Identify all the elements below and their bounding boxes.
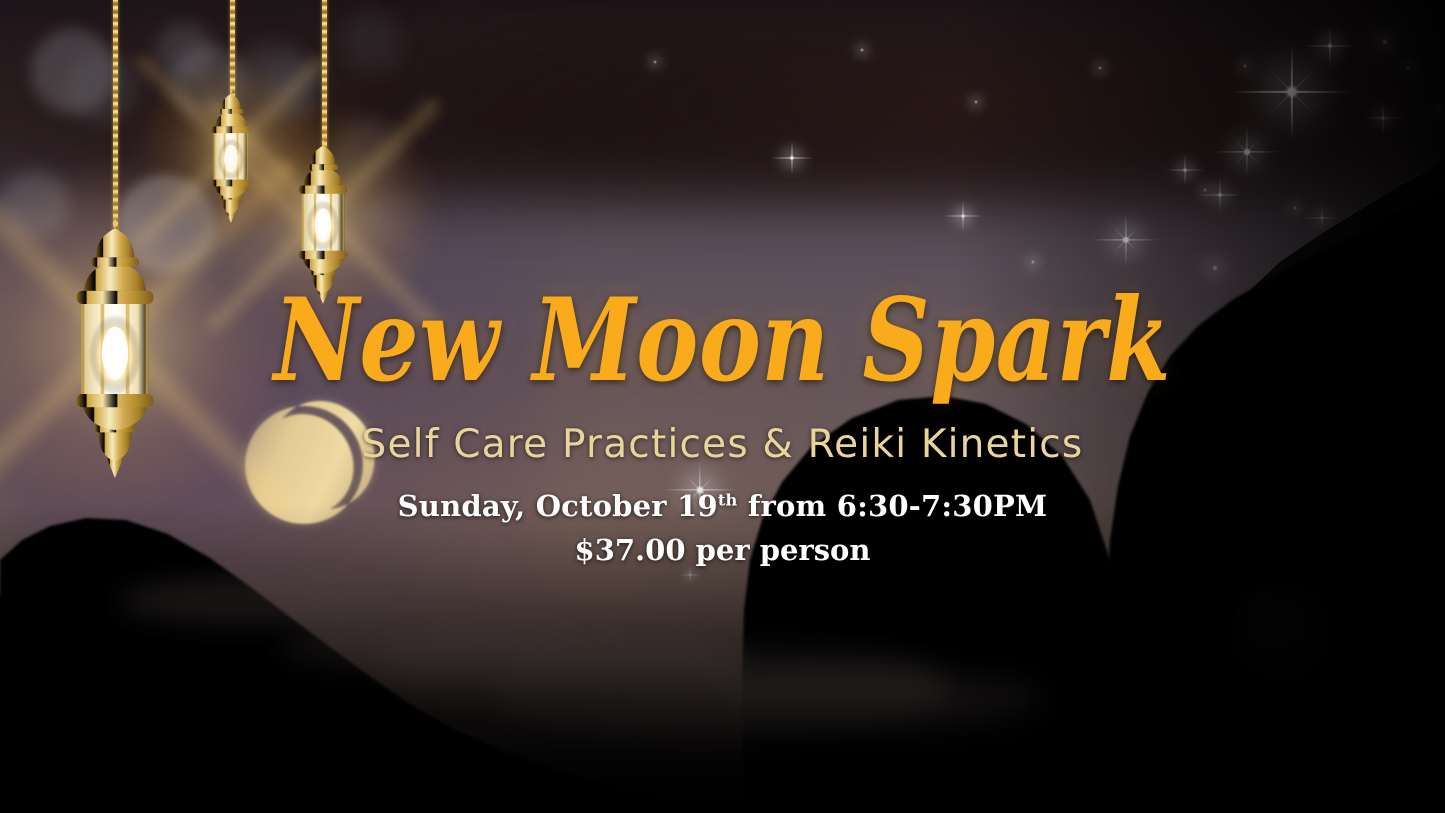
date-suffix: from 6:30-7:30PM [738,489,1048,523]
poster-subtitle: Self Care Practices & Reiki Kinetics [0,422,1445,467]
poster-title: New Moon Spark [29,283,1416,397]
date-prefix: Sunday, October 19 [398,489,718,523]
event-price: $37.00 per person [0,533,1445,567]
event-date-time: Sunday, October 19th from 6:30-7:30PM [0,489,1445,523]
event-poster: New Moon Spark Self Care Practices & Rei… [0,0,1445,813]
date-ordinal: th [718,490,738,509]
